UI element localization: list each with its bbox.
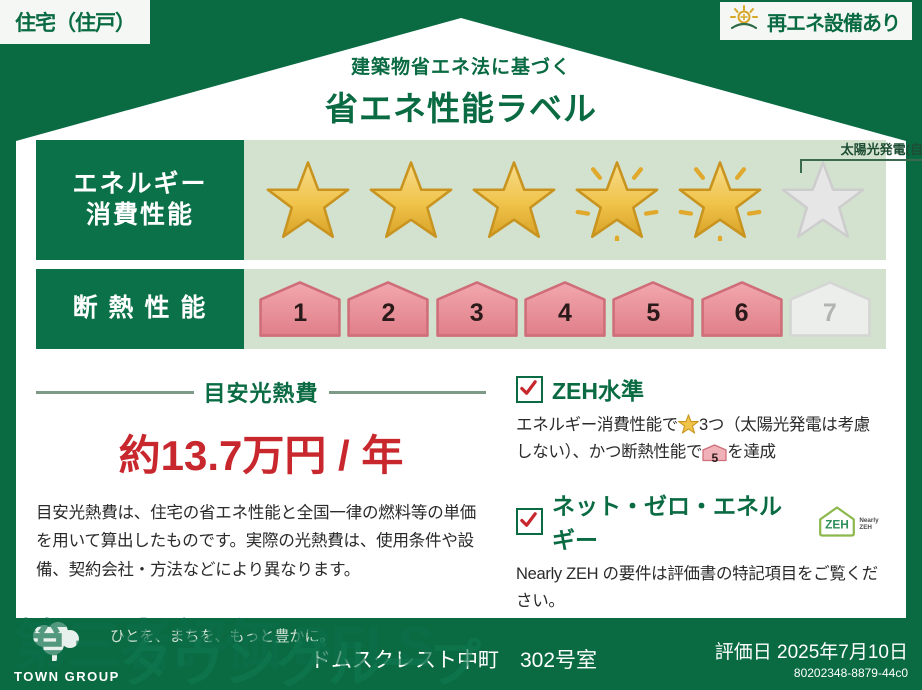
insulation-level-scale: 1 2 3 4: [244, 269, 886, 349]
insulation-performance-row: 断 熱 性 能 1 2: [36, 269, 886, 349]
insulation-level-4: 4: [522, 279, 608, 339]
svg-text:ZEH: ZEH: [859, 525, 872, 532]
net-zero-body: Nearly ZEH の要件は評価書の特記項目をご覧ください。: [516, 561, 886, 614]
insulation-level-3: 3: [434, 279, 520, 339]
zeh-logo-icon: ZEH Nearly ZEH: [816, 504, 886, 538]
checkbox-checked-icon: [516, 508, 543, 535]
energy-performance-label: エネルギー 消費性能: [36, 140, 244, 260]
details-section: 目安光熱費 約13.7万円 / 年 目安光熱費は、住宅の省エネ性能と全国一律の燃…: [36, 372, 886, 602]
energy-cost-column: 目安光熱費 約13.7万円 / 年 目安光熱費は、住宅の省エネ性能と全国一律の燃…: [36, 372, 500, 602]
energy-label-root: 住宅（住戸） 再エネ設備あり 建築物省エネ法に基づく 省エネ性能ラベル: [0, 0, 922, 690]
zeh-body-part3: を達成: [727, 443, 776, 461]
zeh-standard-title: ZEH水準: [552, 372, 644, 406]
net-zero-energy-block: ネット・ゼロ・エネルギー ZEH Nearly ZEH Nearly ZEH の…: [516, 487, 886, 614]
energy-cost-description: 目安光熱費は、住宅の省エネ性能と全国一律の燃料等の単価を用いて算出したものです。…: [36, 499, 486, 584]
zeh-body-star-count: 3つ（太陽光発電: [699, 416, 821, 434]
star-3: [471, 159, 557, 241]
inline-star-icon: [678, 414, 699, 434]
building-type-badge: 住宅（住戸）: [0, 0, 150, 44]
renewable-equipment-label: 再エネ設備あり: [767, 7, 900, 36]
energy-cost-value: 約13.7万円 / 年: [36, 422, 486, 483]
svg-text:Nearly: Nearly: [859, 518, 879, 525]
sun-icon: [728, 4, 760, 39]
zeh-standard-body: エネルギー消費性能で3つ（太陽光発電は考慮しない）、かつ断熱性能で5を達成: [516, 412, 886, 465]
title-main: 省エネ性能ラベル: [0, 82, 922, 130]
rule-left: [36, 391, 194, 394]
renewable-equipment-badge: 再エネ設備あり: [720, 2, 912, 40]
svg-text:ZEH: ZEH: [825, 518, 849, 532]
energy-performance-row: エネルギー 消費性能 太陽光発電(自家消費)分: [36, 140, 886, 260]
checkbox-checked-icon: [516, 376, 543, 403]
zeh-standard-block: ZEH水準 エネルギー消費性能で3つ（太陽光発電は考慮しない）、かつ断熱性能で5…: [516, 372, 886, 465]
energy-performance-stars: 太陽光発電(自家消費)分: [244, 140, 886, 260]
insulation-level-2: 2: [345, 279, 431, 339]
title-subtitle: 建築物省エネ法に基づく: [0, 52, 922, 79]
certification-column: ZEH水準 エネルギー消費性能で3つ（太陽光発電は考慮しない）、かつ断熱性能で5…: [500, 372, 886, 602]
bels-watermark-sub: タウングループ: [120, 630, 760, 690]
net-zero-heading: ネット・ゼロ・エネルギー ZEH Nearly ZEH: [516, 487, 886, 555]
zeh-standard-heading: ZEH水準: [516, 372, 886, 406]
zeh-body-part1: エネルギー消費性能で: [516, 416, 678, 434]
star-4-solar: [574, 159, 660, 241]
insulation-level-6: 6: [699, 279, 785, 339]
star-5-solar: [677, 159, 763, 241]
energy-cost-heading: 目安光熱費: [36, 376, 486, 408]
insulation-level-1: 1: [257, 279, 343, 339]
star-2: [368, 159, 454, 241]
rule-right: [329, 391, 487, 394]
building-type-label: 住宅（住戸）: [15, 7, 135, 37]
insulation-performance-label: 断 熱 性 能: [36, 269, 244, 349]
inline-house-level-number: 5: [702, 449, 727, 468]
insulation-level-7-empty: 7: [787, 279, 873, 339]
label-title-block: 建築物省エネ法に基づく 省エネ性能ラベル: [0, 52, 922, 130]
energy-cost-heading-label: 目安光熱費: [204, 376, 319, 408]
inline-house-level-icon: 5: [702, 444, 727, 465]
star-1: [265, 159, 351, 241]
star-6-empty: [780, 159, 866, 241]
insulation-level-5: 5: [610, 279, 696, 339]
net-zero-title: ネット・ゼロ・エネルギー: [552, 487, 801, 555]
performance-panel: エネルギー 消費性能 太陽光発電(自家消費)分: [36, 140, 886, 358]
solar-contribution-label: 太陽光発電(自家消費)分: [800, 139, 922, 158]
